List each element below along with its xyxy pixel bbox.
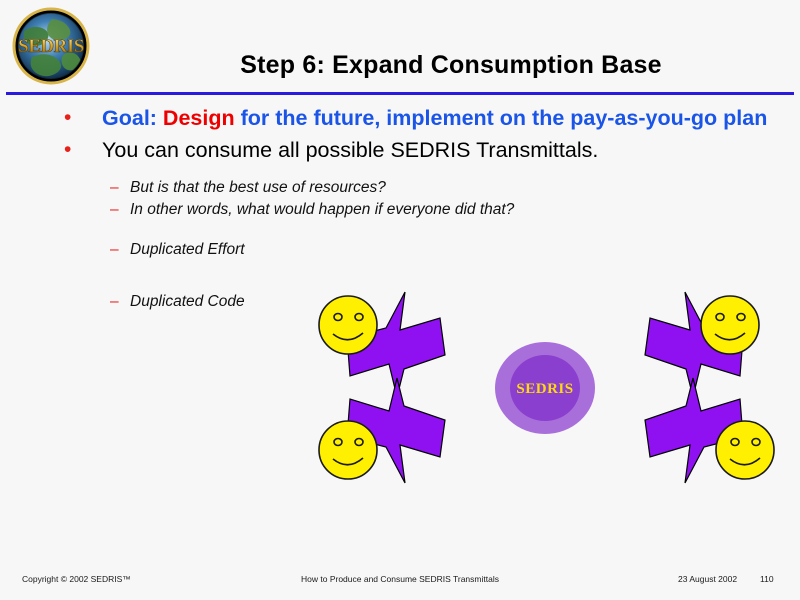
slide-footer: Copyright © 2002 SEDRIS™ How to Produce … xyxy=(0,570,800,592)
core-label: SEDRIS xyxy=(516,381,573,397)
bullet-marker: • xyxy=(64,137,82,163)
smiley-top-right xyxy=(701,296,759,354)
bullet-goal-emphasis: Design xyxy=(163,106,235,130)
bullet-consume: • You can consume all possible SEDRIS Tr… xyxy=(0,137,800,163)
sub-bullet-duplicated-effort: – Duplicated Effort xyxy=(0,239,800,261)
sedris-distribution-diagram: SEDRIS xyxy=(300,280,790,495)
sub-bullet-marker: – xyxy=(110,239,119,261)
sub-bullet-spacer xyxy=(0,261,800,279)
bullet-goal-suffix: for the future, implement on the pay-as-… xyxy=(235,106,768,130)
sub-bullet-marker: – xyxy=(110,291,119,313)
bullet-goal-text: Goal: Design for the future, implement o… xyxy=(102,105,800,131)
sub-bullet-label: Duplicated Effort xyxy=(130,239,800,261)
sub-bullet-marker: – xyxy=(110,177,119,199)
bullet-goal-prefix: Goal: xyxy=(102,106,163,130)
slide-header: SEDRIS Step 6: Expand Consumption Base xyxy=(0,0,800,95)
sub-bullet-resources: – But is that the best use of resources? xyxy=(0,177,800,199)
svg-text:SEDRIS: SEDRIS xyxy=(18,36,84,57)
footer-date: 23 August 2002 xyxy=(678,574,737,584)
sub-bullet-label: In other words, what would happen if eve… xyxy=(130,199,800,221)
bullet-marker: • xyxy=(64,105,82,131)
sedris-core: SEDRIS xyxy=(495,342,595,434)
sub-bullet-spacer xyxy=(0,221,800,239)
smiley-bottom-right xyxy=(716,421,774,479)
footer-page-number: 110 xyxy=(760,574,774,584)
bullet-goal: • Goal: Design for the future, implement… xyxy=(0,105,800,131)
smiley-bottom-left xyxy=(319,421,377,479)
sub-bullet-everyone: – In other words, what would happen if e… xyxy=(0,199,800,221)
page-title: Step 6: Expand Consumption Base xyxy=(120,50,782,80)
sub-bullet-marker: – xyxy=(110,199,119,221)
bullet-consume-text: You can consume all possible SEDRIS Tran… xyxy=(102,137,800,163)
title-divider xyxy=(6,92,794,95)
sedris-globe-logo: SEDRIS xyxy=(8,7,100,85)
smiley-top-left xyxy=(319,296,377,354)
sub-bullet-label: But is that the best use of resources? xyxy=(130,177,800,199)
